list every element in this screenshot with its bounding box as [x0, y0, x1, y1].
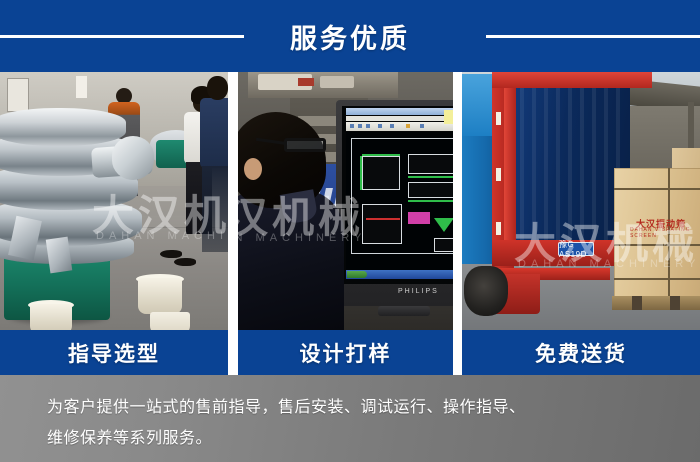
- photo-delivery: 豫G AS19D 大汉振动筛 DAHAN VIBRATING SCREEN 大汉…: [462, 72, 700, 330]
- service-panel-design[interactable]: PHILIPS 大汉机械 DAHAN MACHINERY 设计打样: [238, 72, 453, 375]
- footer-line-2: 维修保养等系列服务。: [47, 423, 674, 454]
- photo3-corrugation-4: [556, 86, 560, 262]
- photo2-cad-dim-2: [360, 156, 362, 190]
- photo2-cad-dim-1: [362, 154, 400, 156]
- photo2-shelf-box-b: [320, 76, 354, 88]
- photo1-bucket-a: [138, 278, 182, 314]
- photo3-crate-strap-h3: [614, 278, 700, 280]
- photo2-cad-centerline: [366, 218, 400, 220]
- photo-guidance: 大汉机械 DAHAN MACHINERY: [0, 72, 228, 330]
- photo2-cad-titlebar: [346, 108, 453, 115]
- photo2-sticky-note: [444, 110, 453, 124]
- photo2-cad-dim-4: [408, 200, 453, 202]
- photo3-pallet-gap-2: [670, 296, 680, 310]
- photo3-corrugation-1: [520, 86, 524, 262]
- photo2-cad-part-3: [408, 182, 453, 198]
- photo2-glasses-lens: [284, 138, 326, 152]
- caption-design: 设计打样: [238, 330, 453, 375]
- license-plate: 豫G AS19D: [558, 242, 594, 256]
- caption-delivery: 免费送货: [462, 330, 700, 375]
- photo2-toolbar-icon-3: [366, 124, 370, 128]
- photo2-toolbar-icon-6: [406, 124, 410, 128]
- photo3-crate-strap-h1: [614, 188, 700, 190]
- photo2-start-button: [347, 271, 367, 278]
- photo1-window-small: [76, 76, 87, 98]
- photo2-cad-part-2: [408, 154, 453, 174]
- photo2-toolbar-icon-4: [378, 124, 382, 128]
- photo2-cad-menubar: [346, 116, 453, 121]
- photo1-window: [7, 78, 29, 112]
- photo3-corrugation-2: [532, 86, 536, 262]
- photo1-bucket-c: [150, 312, 190, 330]
- photo2-cad-part-6: [434, 238, 453, 252]
- photo2-toolbar-icon-7: [420, 124, 424, 128]
- photo1-sieve-outlet-head: [112, 136, 154, 180]
- photo2-toolbar-icon-5: [390, 124, 394, 128]
- photo1-visitor-b-head: [207, 76, 228, 100]
- photo1-visitor-b-legs: [202, 166, 228, 252]
- photo2-cad-part-1: [362, 156, 400, 190]
- banner-footer: 为客户提供一站式的售前指导，售后安装、调试运行、操作指导、 维修保养等系列服务。: [0, 375, 700, 462]
- photo2-cad-highlight-1: [408, 212, 430, 224]
- photo2-engineer-ear: [244, 158, 262, 180]
- photo1-sieve-chute-right: [46, 237, 73, 274]
- photo2-cad-dim-3: [408, 176, 453, 178]
- photo1-bucket-b: [30, 304, 72, 330]
- photo3-corrugation-6: [580, 86, 584, 262]
- photo2-cad-toolbar: [346, 122, 453, 131]
- photo3-corrugation-7: [592, 86, 596, 262]
- photo2-cad-part-4: [362, 204, 402, 244]
- photo2-monitor-stand: [378, 306, 430, 316]
- service-panel-guidance[interactable]: 大汉机械 DAHAN MACHINERY 指导选型: [0, 72, 228, 375]
- crate-logo-sub: DAHAN VIBRATING SCREEN: [630, 228, 694, 238]
- photo2-toolbar-icon-1: [350, 124, 354, 128]
- photo3-truck-wheel: [464, 266, 508, 316]
- footer-line-1: 为客户提供一站式的售前指导，售后安装、调试运行、操作指导、: [47, 392, 674, 423]
- photo3-truck-red-header: [492, 72, 652, 88]
- photo3-pallet-gap-1: [632, 296, 642, 310]
- photo3-crate-strap-h2: [614, 244, 700, 246]
- photo3-pallet: [612, 296, 700, 310]
- photo3-corrugation-3: [544, 86, 548, 262]
- photo2-toolbar-icon-2: [358, 124, 362, 128]
- service-promo-banner: 服务优质: [0, 0, 700, 462]
- photo3-reflector-3: [496, 222, 501, 235]
- caption-guidance: 指导选型: [0, 330, 228, 375]
- page-title: 服务优质: [0, 0, 700, 72]
- monitor-brand-label: PHILIPS: [398, 288, 436, 296]
- photo1-sieve-deck-1: [0, 108, 126, 146]
- photo2-shelf-box-red: [298, 78, 314, 86]
- photo3-reflector-2: [496, 168, 501, 181]
- service-panels: 大汉机械 DAHAN MACHINERY 指导选型: [0, 72, 700, 375]
- banner-header: 服务优质: [0, 0, 700, 72]
- photo3-corrugation-5: [568, 86, 572, 262]
- photo3-reflector-1: [496, 112, 501, 125]
- photo1-visitor-shoe-b: [174, 258, 196, 266]
- photo1-visitor-shoe-a: [160, 250, 182, 258]
- service-panel-delivery[interactable]: 豫G AS19D 大汉振动筛 DAHAN VIBRATING SCREEN 大汉…: [462, 72, 700, 375]
- photo1-visitor-b-body: [200, 98, 228, 168]
- photo3-truck-red-door: [504, 72, 516, 262]
- photo3-corrugation-8: [604, 86, 608, 262]
- photo-design: PHILIPS 大汉机械 DAHAN MACHINERY: [238, 72, 453, 330]
